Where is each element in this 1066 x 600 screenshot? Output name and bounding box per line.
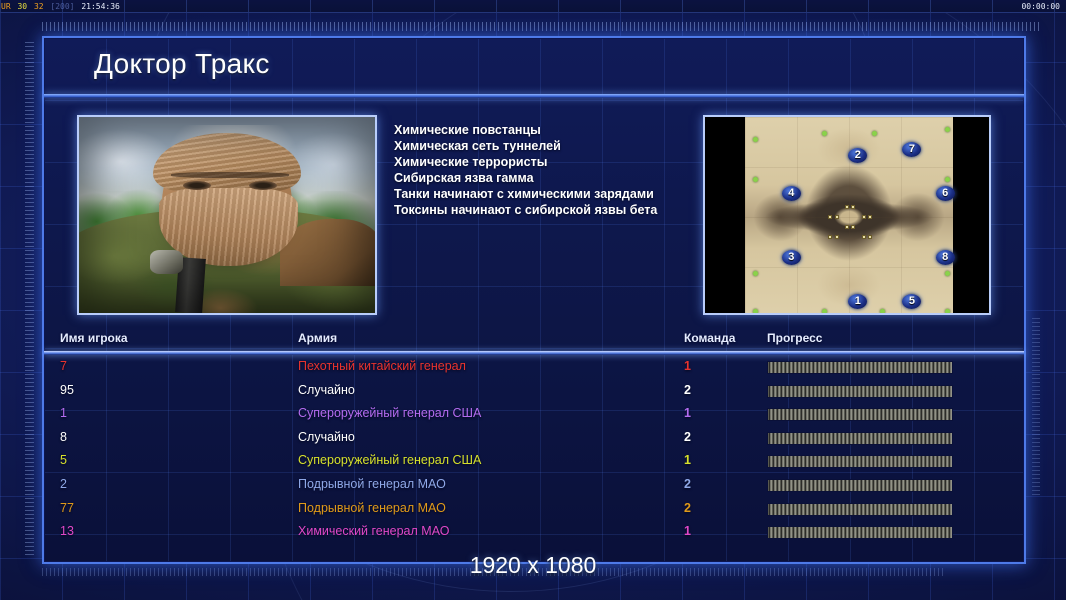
progress-bar [767, 408, 953, 421]
map-crate-icon [828, 215, 832, 219]
map-preview: 27463815 [703, 115, 991, 315]
ability-line: Токсины начинают с сибирской язвы бета [394, 202, 694, 218]
table-row: 77Подрывной генерал МАО2 [44, 498, 1024, 522]
map-start-position-3[interactable]: 3 [782, 250, 801, 265]
column-header-progress: Прогресс [767, 331, 822, 345]
map-crate-icon [835, 215, 839, 219]
map-start-position-8[interactable]: 8 [936, 250, 955, 265]
page-title: Доктор Тракс [94, 48, 270, 80]
army-cell: Подрывной генерал МАО [298, 501, 446, 515]
team-cell: 2 [684, 430, 691, 444]
header-divider [44, 351, 1024, 355]
progress-bar [767, 385, 953, 398]
progress-bar [767, 503, 953, 516]
table-row: 1Супероружейный генерал США1 [44, 403, 1024, 427]
ability-line: Химическая сеть туннелей [394, 138, 694, 154]
table-row: 95Случайно2 [44, 380, 1024, 404]
resolution-label: 1920 x 1080 [0, 552, 1066, 579]
map-crate-icon [862, 235, 866, 239]
table-row: 8Случайно2 [44, 427, 1024, 451]
ability-line: Химические террористы [394, 154, 694, 170]
progress-bar [767, 455, 953, 468]
player-name-cell: 7 [60, 359, 67, 373]
map-start-position-6[interactable]: 6 [936, 186, 955, 201]
player-list-header: Имя игрока Армия Команда Прогресс [44, 330, 1024, 352]
player-name-cell: 8 [60, 430, 67, 444]
map-resource-icon [753, 309, 758, 314]
progress-bar [767, 432, 953, 445]
player-name-cell: 77 [60, 501, 74, 515]
team-cell: 1 [684, 524, 691, 538]
match-timer: 00:00:00 [1021, 0, 1060, 13]
debug-status-bar: UR 30 32 [200] 21:54:36 00:00:00 [0, 0, 1066, 13]
player-rows: 7Пехотный китайский генерал195Случайно21… [44, 356, 1024, 556]
window-frame: Доктор Тракс [20, 18, 1046, 582]
table-row: 2Подрывной генерал МАО2 [44, 474, 1024, 498]
media-row: Химические повстанцыХимическая сеть тунн… [44, 106, 1024, 324]
ability-line: Сибирская язва гамма [394, 170, 694, 186]
ruler-top [42, 22, 1042, 31]
ruler-right [1032, 318, 1040, 498]
statusbar-bracket: [200] [49, 2, 75, 11]
army-cell: Супероружейный генерал США [298, 453, 481, 467]
map-crate-icon [862, 215, 866, 219]
map-crate-icon [835, 235, 839, 239]
map-terrain: 27463815 [745, 117, 953, 315]
statusbar-value-2: 32 [33, 2, 45, 11]
map-grid [745, 117, 953, 315]
column-header-player: Имя игрока [60, 331, 128, 345]
player-name-cell: 1 [60, 406, 67, 420]
army-cell: Подрывной генерал МАО [298, 477, 446, 491]
team-cell: 2 [684, 477, 691, 491]
team-cell: 1 [684, 406, 691, 420]
team-cell: 1 [684, 453, 691, 467]
team-cell: 1 [684, 359, 691, 373]
map-crate-icon [851, 205, 855, 209]
map-resource-icon [822, 309, 827, 314]
title-divider [44, 94, 1024, 98]
map-crate-icon [845, 205, 849, 209]
army-cell: Случайно [298, 430, 355, 444]
map-resource-icon [945, 309, 950, 314]
army-cell: Супероружейный генерал США [298, 406, 481, 420]
map-resource-icon [880, 309, 885, 314]
team-cell: 2 [684, 501, 691, 515]
progress-bar [767, 526, 953, 539]
army-cell: Случайно [298, 383, 355, 397]
team-cell: 2 [684, 383, 691, 397]
player-name-cell: 13 [60, 524, 74, 538]
map-resource-icon [872, 131, 877, 136]
loading-screen-panel: Доктор Тракс [42, 36, 1026, 564]
map-crate-icon [868, 215, 872, 219]
map-resource-icon [945, 127, 950, 132]
map-resource-icon [822, 131, 827, 136]
map-crate-icon [845, 225, 849, 229]
map-start-position-4[interactable]: 4 [782, 186, 801, 201]
table-row: 13Химический генерал МАО1 [44, 521, 1024, 545]
ability-line: Химические повстанцы [394, 122, 694, 138]
map-crate-icon [868, 235, 872, 239]
statusbar-value-1: 30 [16, 2, 28, 11]
ruler-left [25, 42, 34, 558]
map-resource-icon [945, 271, 950, 276]
map-crate-icon [828, 235, 832, 239]
statusbar-time: 21:54:36 [80, 2, 121, 11]
player-name-cell: 5 [60, 453, 67, 467]
progress-bar [767, 361, 953, 374]
progress-bar [767, 479, 953, 492]
ability-line: Танки начинают с химическими зарядами [394, 186, 694, 202]
army-cell: Химический генерал МАО [298, 524, 449, 538]
map-resource-icon [945, 177, 950, 182]
map-crate-icon [851, 225, 855, 229]
game-background: UR 30 32 [200] 21:54:36 00:00:00 Доктор … [0, 0, 1066, 600]
player-name-cell: 95 [60, 383, 74, 397]
player-list: Имя игрока Армия Команда Прогресс 7Пехот… [44, 330, 1024, 562]
statusbar-grid [0, 0, 1066, 12]
statusbar-prefix: UR [0, 2, 12, 11]
player-name-cell: 2 [60, 477, 67, 491]
table-row: 7Пехотный китайский генерал1 [44, 356, 1024, 380]
general-abilities-list: Химические повстанцыХимическая сеть тунн… [394, 122, 694, 219]
table-row: 5Супероружейный генерал США1 [44, 450, 1024, 474]
portrait-vignette [79, 117, 375, 313]
title-bar: Доктор Тракс [44, 38, 1024, 96]
column-header-army: Армия [298, 331, 337, 345]
column-header-team: Команда [684, 331, 735, 345]
general-portrait [77, 115, 377, 315]
army-cell: Пехотный китайский генерал [298, 359, 466, 373]
